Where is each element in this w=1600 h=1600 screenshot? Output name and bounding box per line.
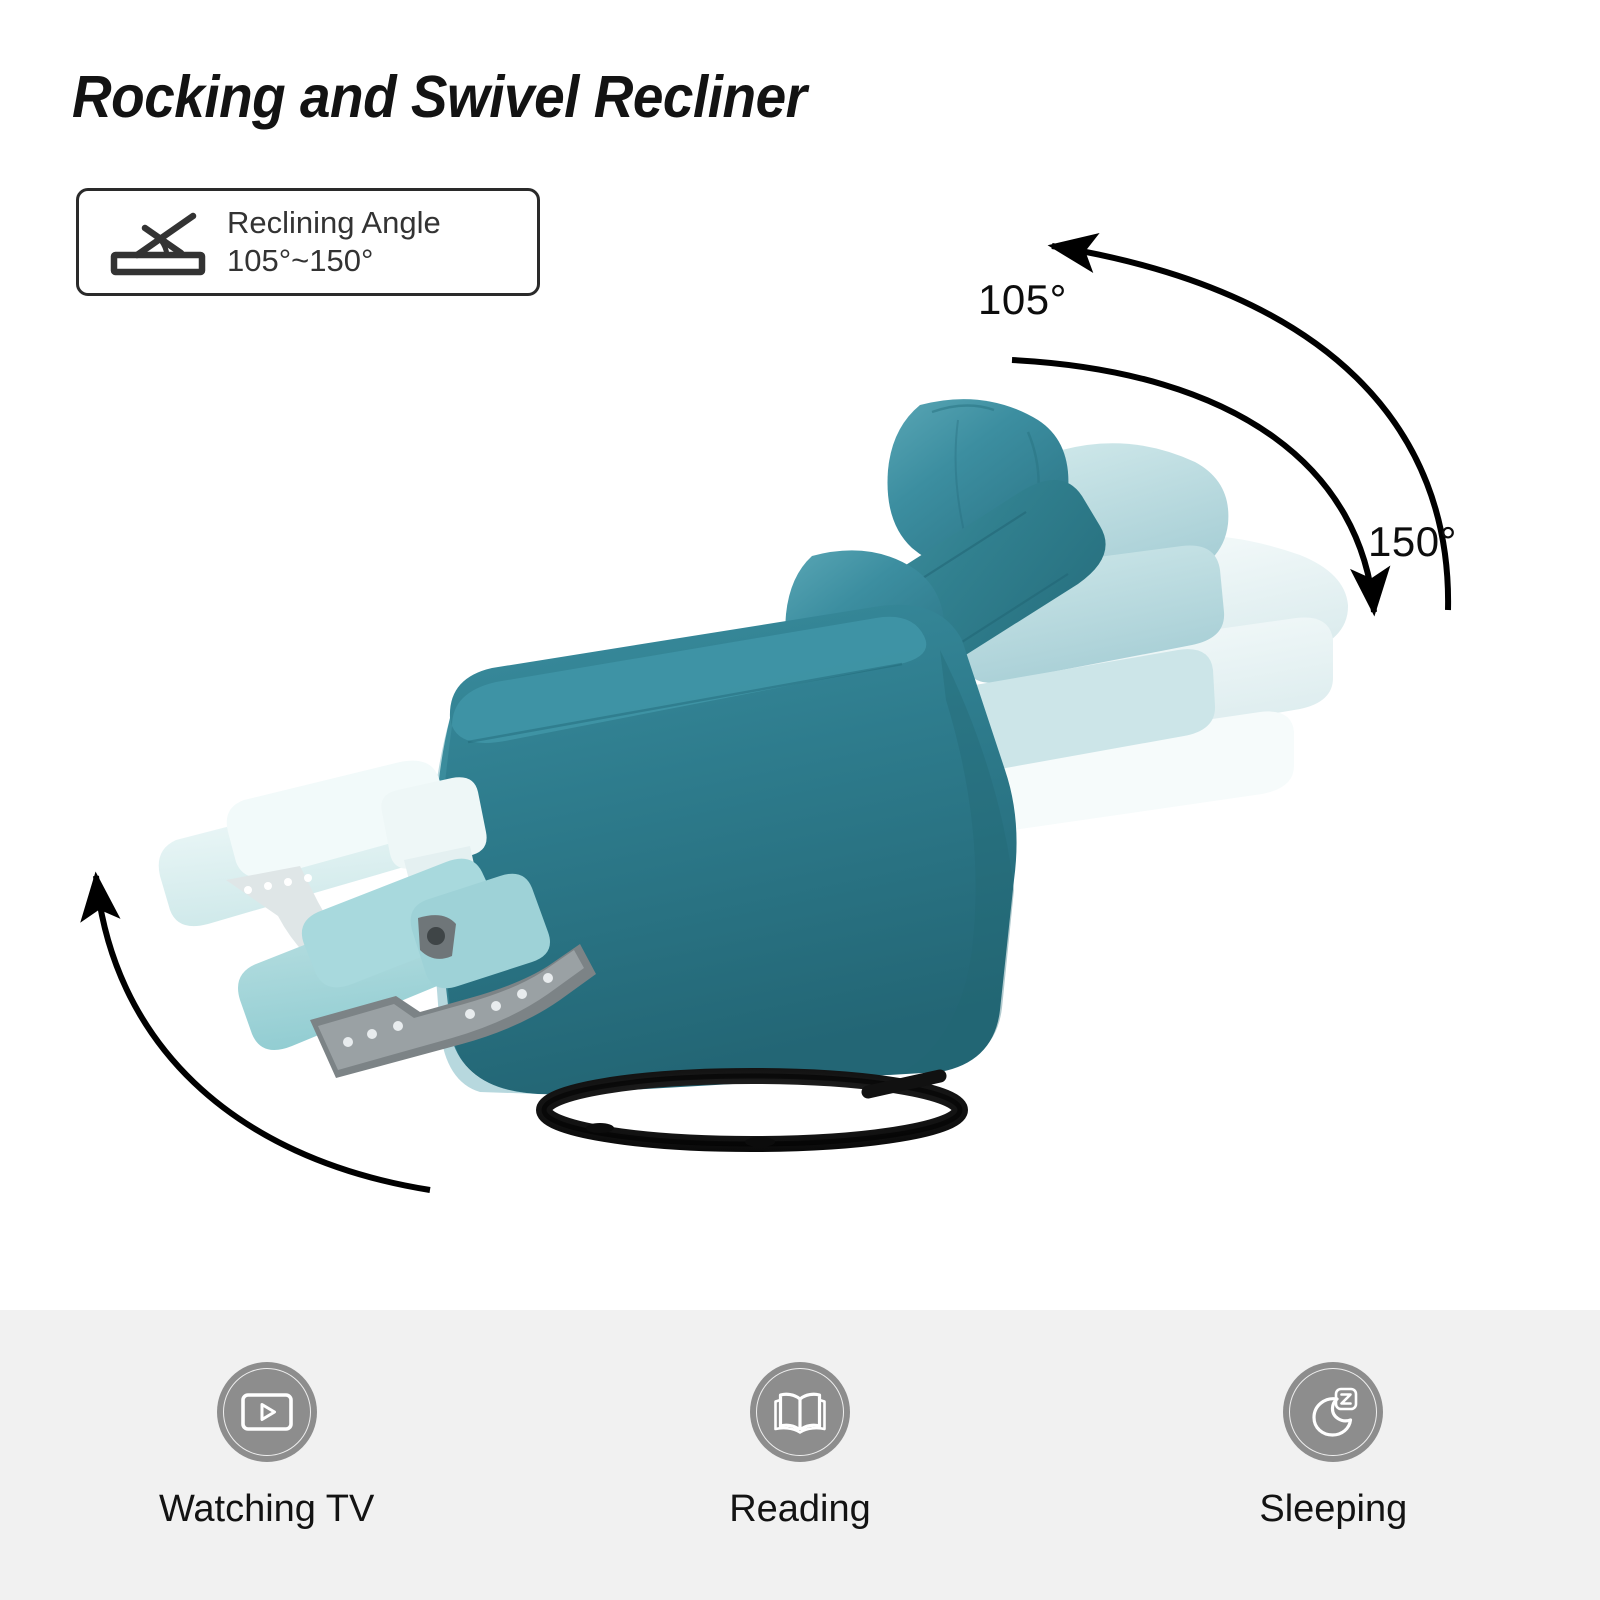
book-icon [772,1388,828,1436]
recliner-illustration [0,0,1600,1290]
use-case-feature-bar: Watching TV Reading Sleep [0,1310,1600,1600]
product-infographic: Rocking and Swivel Recliner Reclining An… [0,0,1600,1600]
moon-z-icon [1304,1386,1362,1438]
feature-label-reading: Reading [729,1488,871,1531]
angle-150-label: 150° [1368,518,1457,566]
swivel-base [544,1076,960,1147]
book-icon-circle [750,1362,850,1462]
feature-item-watching-tv: Watching TV [117,1362,417,1531]
angle-105-label: 105° [978,276,1067,324]
feature-label-watching-tv: Watching TV [159,1488,374,1531]
feature-label-sleeping: Sleeping [1259,1488,1407,1531]
feature-item-sleeping: Sleeping [1183,1362,1483,1531]
recliner-mechanism [418,915,456,959]
tv-icon-circle [217,1362,317,1462]
moon-z-icon-circle [1283,1362,1383,1462]
tv-icon [239,1389,295,1435]
feature-item-reading: Reading [650,1362,950,1531]
